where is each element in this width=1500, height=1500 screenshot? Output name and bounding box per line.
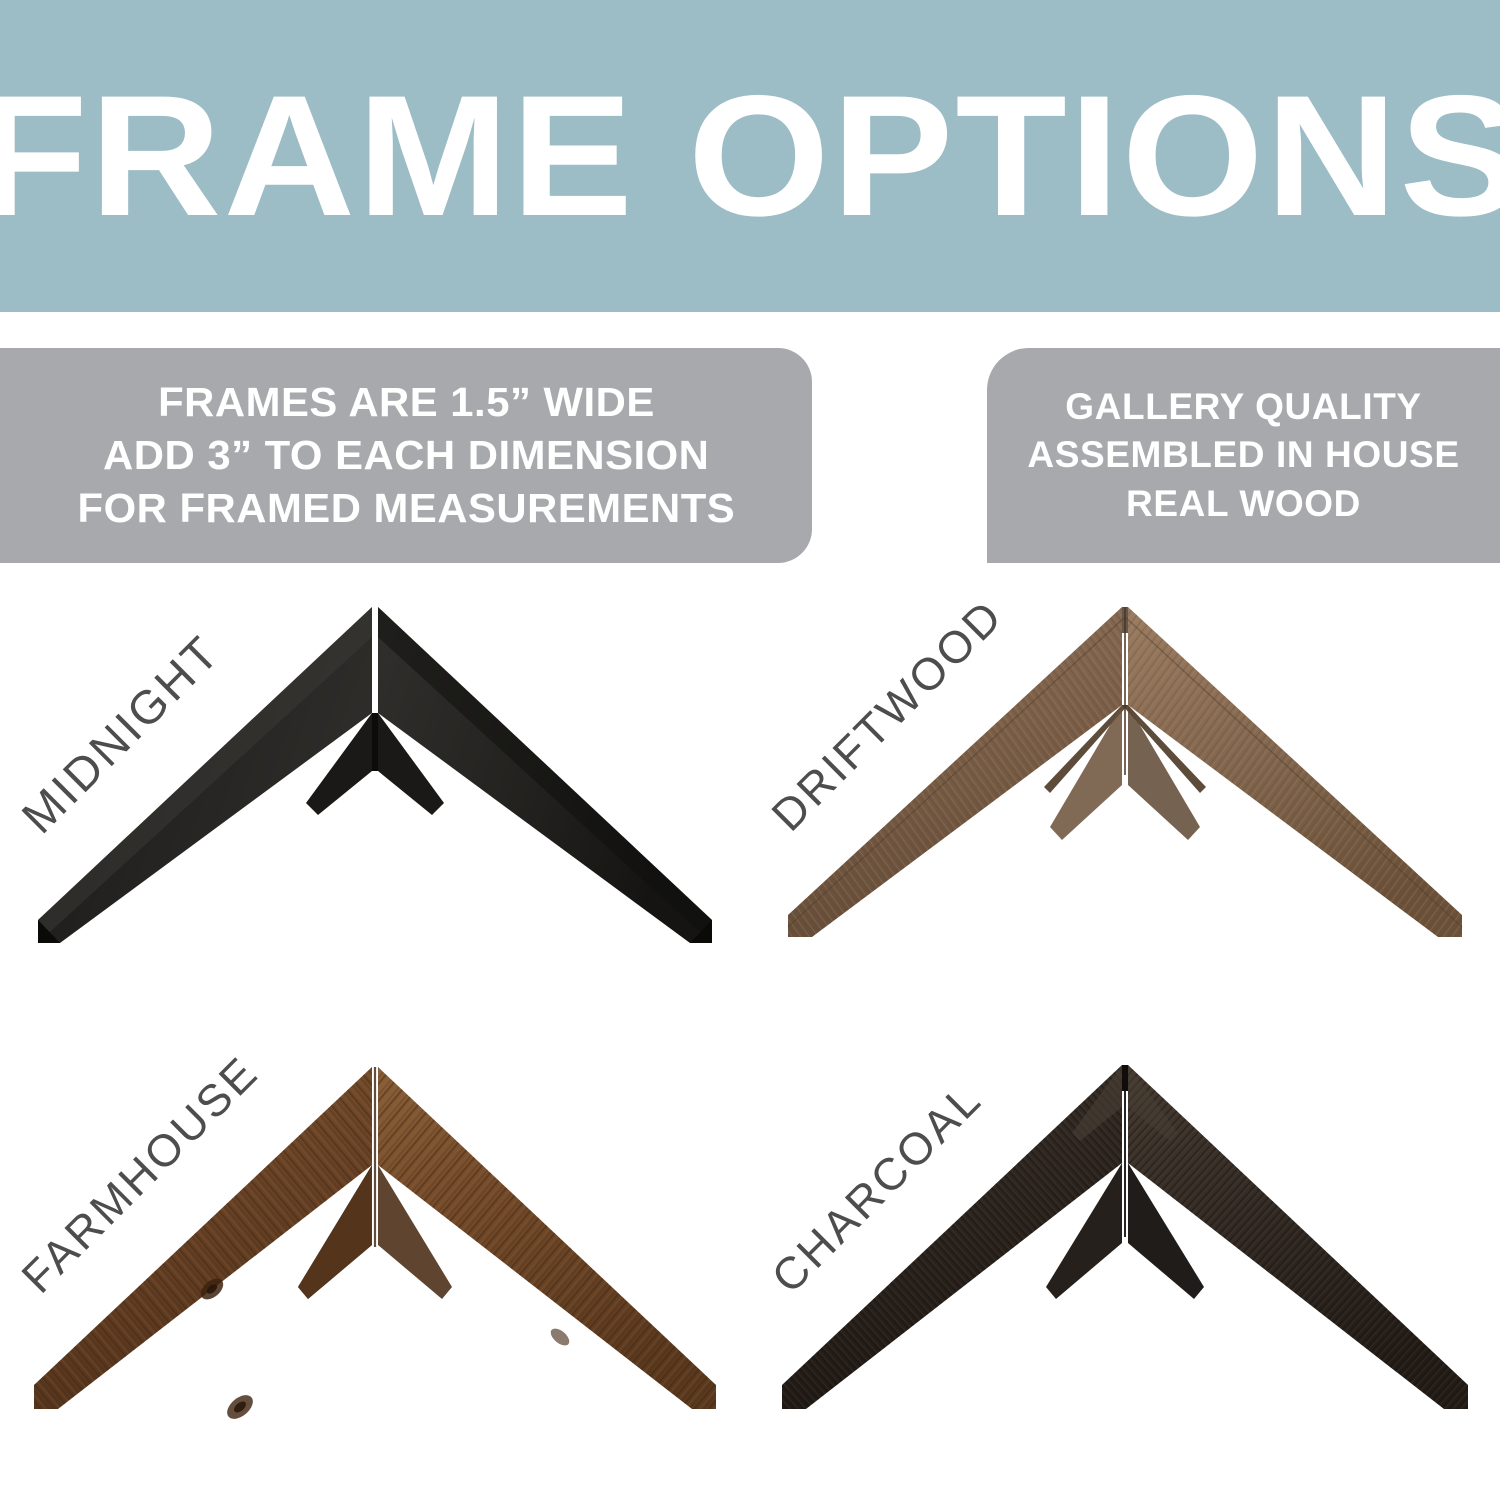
callout-line: REAL WOOD: [1126, 480, 1361, 528]
frame-sample-charcoal[interactable]: CHARCOAL: [750, 1037, 1500, 1499]
page-title: FRAME OPTIONS: [0, 70, 1500, 242]
callout-line: ADD 3” TO EACH DIMENSION: [103, 429, 709, 482]
frame-corner-farmhouse-icon: [0, 1037, 750, 1499]
frame-measurements-callout: FRAMES ARE 1.5” WIDE ADD 3” TO EACH DIME…: [0, 348, 812, 563]
frame-corner-driftwood-icon: [750, 575, 1500, 1037]
frame-corner-charcoal-icon: [750, 1037, 1500, 1499]
callout-line: FRAMES ARE 1.5” WIDE: [158, 376, 655, 429]
callout-line: ASSEMBLED IN HOUSE: [1027, 431, 1459, 479]
frame-sample-driftwood[interactable]: DRIFTWOOD: [750, 575, 1500, 1037]
frame-sample-farmhouse[interactable]: FARMHOUSE: [0, 1037, 750, 1499]
callout-line: FOR FRAMED MEASUREMENTS: [77, 482, 735, 535]
callout-line: GALLERY QUALITY: [1065, 383, 1421, 431]
frame-options-grid: MIDNIGHT: [0, 575, 1500, 1500]
header-banner: FRAME OPTIONS: [0, 0, 1500, 312]
frame-corner-midnight-icon: [0, 575, 750, 1037]
frame-sample-midnight[interactable]: MIDNIGHT: [0, 575, 750, 1037]
